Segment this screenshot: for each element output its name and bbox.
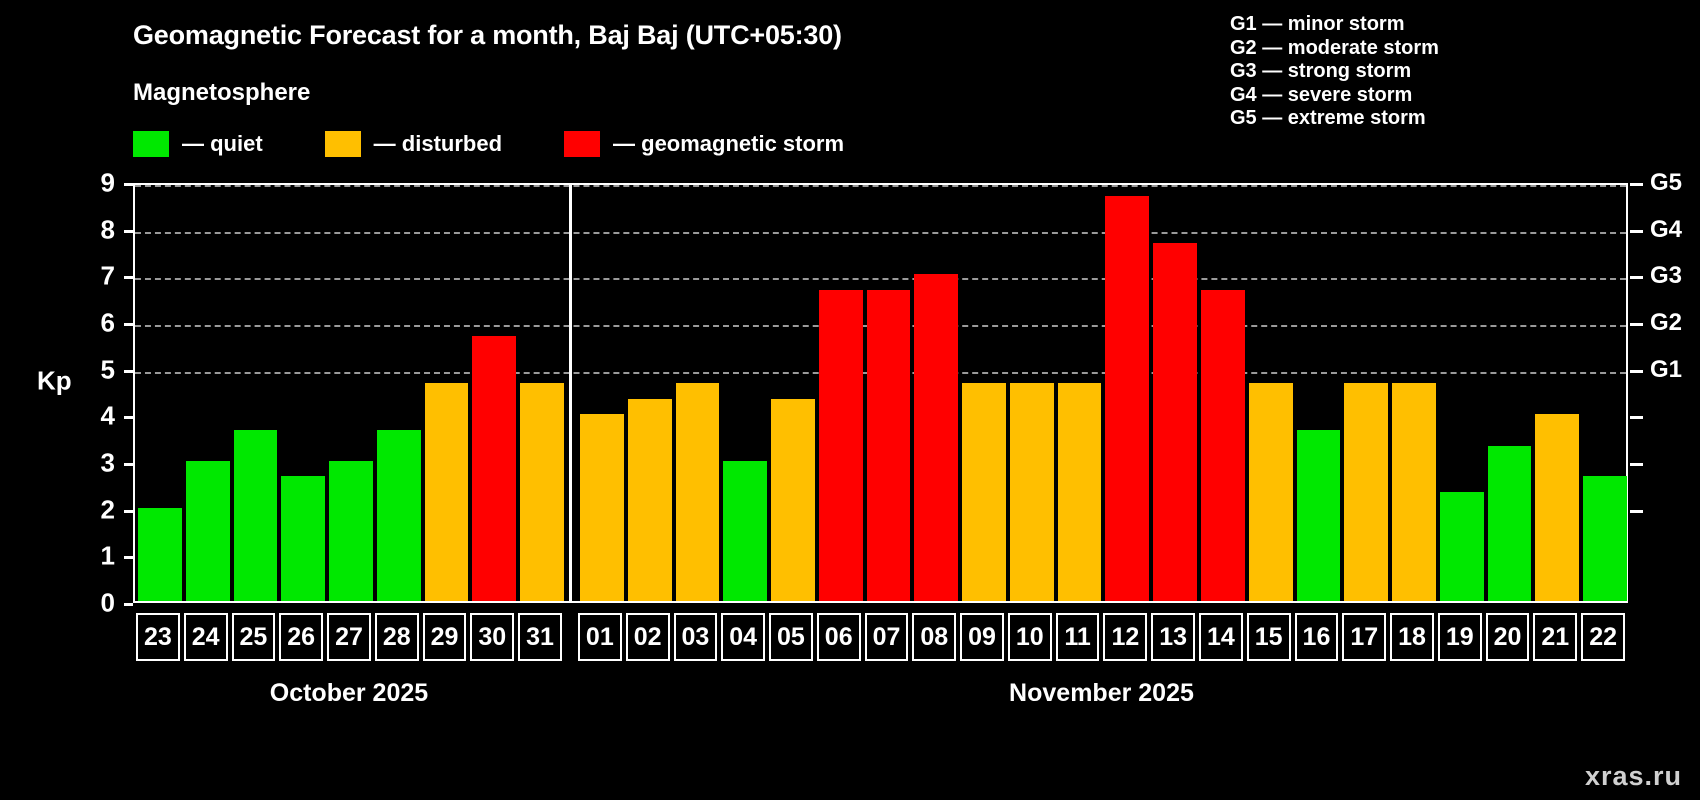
- g-minor-tick: [1630, 416, 1643, 419]
- legend: — quiet — disturbed — geomagnetic storm: [133, 131, 844, 157]
- legend-swatch-disturbed: [325, 131, 361, 157]
- legend-item-disturbed: — disturbed: [325, 131, 502, 157]
- bar-19[interactable]: [1440, 492, 1484, 601]
- date-label-10: 10: [1008, 613, 1052, 661]
- date-label-01: 01: [578, 613, 622, 661]
- date-label-30: 30: [470, 613, 514, 661]
- bar-30[interactable]: [472, 336, 516, 601]
- y-tick: [124, 416, 133, 419]
- legend-label-disturbed: — disturbed: [374, 131, 502, 157]
- page-title: Geomagnetic Forecast for a month, Baj Ba…: [133, 20, 842, 51]
- date-label-22: 22: [1581, 613, 1625, 661]
- y-tick-label: 6: [75, 308, 115, 339]
- plot-inner: [135, 185, 1626, 601]
- month-divider: [569, 185, 572, 601]
- date-label-04: 04: [721, 613, 765, 661]
- date-label-18: 18: [1390, 613, 1434, 661]
- date-label-29: 29: [423, 613, 467, 661]
- bar-27[interactable]: [329, 461, 373, 601]
- y-tick-label: 1: [75, 541, 115, 572]
- legend-heading: Magnetosphere: [133, 79, 310, 107]
- date-label-25: 25: [232, 613, 276, 661]
- y-tick-label: 2: [75, 494, 115, 525]
- bar-02[interactable]: [628, 399, 672, 601]
- bar-20[interactable]: [1488, 446, 1532, 601]
- y-tick: [124, 323, 133, 326]
- g-scale-line: G2 — moderate storm: [1230, 37, 1439, 61]
- g-tick: [1630, 230, 1643, 233]
- date-label-02: 02: [626, 613, 670, 661]
- date-label-31: 31: [518, 613, 562, 661]
- y-axis-title: Kp: [37, 366, 72, 397]
- bar-11[interactable]: [1058, 383, 1102, 601]
- y-tick: [124, 230, 133, 233]
- bar-06[interactable]: [819, 290, 863, 601]
- date-label-21: 21: [1533, 613, 1577, 661]
- bar-03[interactable]: [676, 383, 720, 601]
- x-axis-date-labels: 2324252627282930310102030405060708091011…: [133, 613, 1628, 661]
- g-minor-tick: [1630, 510, 1643, 513]
- date-label-23: 23: [136, 613, 180, 661]
- date-label-15: 15: [1247, 613, 1291, 661]
- bar-26[interactable]: [281, 476, 325, 601]
- date-label-17: 17: [1342, 613, 1386, 661]
- date-label-06: 06: [817, 613, 861, 661]
- legend-swatch-quiet: [133, 131, 169, 157]
- date-label-08: 08: [912, 613, 956, 661]
- bar-15[interactable]: [1249, 383, 1293, 601]
- g-scale-legend: G1 — minor storm G2 — moderate storm G3 …: [1230, 13, 1439, 131]
- g-tick-label-G5: G5: [1650, 169, 1682, 197]
- bar-21[interactable]: [1535, 414, 1579, 601]
- g-tick: [1630, 183, 1643, 186]
- g-tick: [1630, 370, 1643, 373]
- date-label-19: 19: [1438, 613, 1482, 661]
- date-label-14: 14: [1199, 613, 1243, 661]
- bar-07[interactable]: [867, 290, 911, 601]
- date-label-09: 09: [960, 613, 1004, 661]
- y-tick-label: 9: [75, 168, 115, 199]
- bar-series: [135, 185, 1626, 601]
- y-tick: [124, 183, 133, 186]
- legend-item-quiet: — quiet: [133, 131, 263, 157]
- y-tick-label: 8: [75, 214, 115, 245]
- y-tick-label: 3: [75, 448, 115, 479]
- bar-24[interactable]: [186, 461, 230, 601]
- date-label-27: 27: [327, 613, 371, 661]
- date-label-13: 13: [1151, 613, 1195, 661]
- g-scale-line: G4 — severe storm: [1230, 84, 1439, 108]
- bar-12[interactable]: [1105, 196, 1149, 601]
- month-caption: October 2025: [270, 679, 428, 708]
- legend-swatch-storm: [564, 131, 600, 157]
- bar-09[interactable]: [962, 383, 1006, 601]
- y-tick-label: 4: [75, 401, 115, 432]
- date-label-03: 03: [674, 613, 718, 661]
- y-tick: [124, 556, 133, 559]
- bar-29[interactable]: [425, 383, 469, 601]
- legend-item-storm: — geomagnetic storm: [564, 131, 844, 157]
- g-tick: [1630, 276, 1643, 279]
- date-label-20: 20: [1486, 613, 1530, 661]
- g-scale-line: G5 — extreme storm: [1230, 107, 1439, 131]
- date-label-05: 05: [769, 613, 813, 661]
- watermark: xras.ru: [1585, 761, 1682, 792]
- y-tick-label: 5: [75, 354, 115, 385]
- bar-04[interactable]: [723, 461, 767, 601]
- g-scale-line: G3 — strong storm: [1230, 60, 1439, 84]
- bar-14[interactable]: [1201, 290, 1245, 601]
- y-tick: [124, 370, 133, 373]
- bar-05[interactable]: [771, 399, 815, 601]
- bar-16[interactable]: [1297, 430, 1341, 601]
- date-label-11: 11: [1056, 613, 1100, 661]
- bar-01[interactable]: [580, 414, 624, 601]
- y-tick-label: 7: [75, 261, 115, 292]
- bar-10[interactable]: [1010, 383, 1054, 601]
- legend-label-storm: — geomagnetic storm: [613, 131, 844, 157]
- bar-18[interactable]: [1392, 383, 1436, 601]
- g-tick-label-G1: G1: [1650, 356, 1682, 384]
- g-tick-label-G3: G3: [1650, 262, 1682, 290]
- bar-28[interactable]: [377, 430, 421, 601]
- y-tick: [124, 463, 133, 466]
- g-tick-label-G4: G4: [1650, 216, 1682, 244]
- bar-31[interactable]: [520, 383, 564, 601]
- g-tick-label-G2: G2: [1650, 309, 1682, 337]
- bar-13[interactable]: [1153, 243, 1197, 601]
- y-tick: [124, 603, 133, 606]
- month-caption: November 2025: [1009, 679, 1194, 708]
- date-label-16: 16: [1295, 613, 1339, 661]
- g-tick: [1630, 323, 1643, 326]
- bar-08[interactable]: [914, 274, 958, 601]
- bar-23[interactable]: [138, 508, 182, 601]
- g-scale-line: G1 — minor storm: [1230, 13, 1439, 37]
- date-label-07: 07: [865, 613, 909, 661]
- date-label-24: 24: [184, 613, 228, 661]
- y-tick: [124, 276, 133, 279]
- bar-25[interactable]: [234, 430, 278, 601]
- bar-17[interactable]: [1344, 383, 1388, 601]
- bar-22[interactable]: [1583, 476, 1627, 601]
- date-label-12: 12: [1103, 613, 1147, 661]
- date-label-28: 28: [375, 613, 419, 661]
- y-tick-label: 0: [75, 588, 115, 619]
- date-label-26: 26: [279, 613, 323, 661]
- g-minor-tick: [1630, 463, 1643, 466]
- plot-area: [133, 183, 1628, 603]
- legend-label-quiet: — quiet: [182, 131, 263, 157]
- y-tick: [124, 510, 133, 513]
